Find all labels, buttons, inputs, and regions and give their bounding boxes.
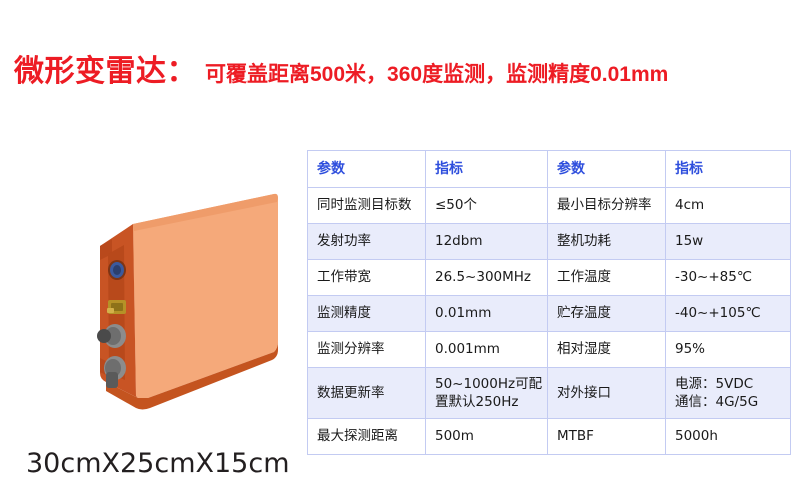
page-title-main: 微形变雷达： xyxy=(14,46,197,90)
param-cell: 工作带宽 xyxy=(308,260,426,296)
param-cell: 监测精度 xyxy=(308,296,426,332)
param-cell: 同时监测目标数 xyxy=(308,188,426,224)
param-cell: 发射功率 xyxy=(308,224,426,260)
page-title-subtitle: 可覆盖距离500米，360度监测，监测精度0.01mm xyxy=(205,58,668,88)
value-cell: 500m xyxy=(426,419,548,455)
table-row: 数据更新率50~1000Hz可配置默认250Hz对外接口电源：5VDC通信：4G… xyxy=(308,368,791,419)
spec-table-body: 同时监测目标数≤50个最小目标分辨率4cm发射功率12dbm整机功耗15w工作带… xyxy=(308,188,791,455)
param-cell: 监测分辨率 xyxy=(308,332,426,368)
column-header-param-left: 参数 xyxy=(308,151,426,188)
page-title: 微形变雷达： 可覆盖距离500米，360度监测，监测精度0.01mm xyxy=(14,46,668,90)
blue-ring-connector xyxy=(108,260,126,280)
value-cell: 0.01mm xyxy=(426,296,548,332)
param-cell: MTBF xyxy=(548,419,666,455)
radar-device-illustration xyxy=(78,182,303,432)
param-cell: 工作温度 xyxy=(548,260,666,296)
table-row: 监测分辨率0.001mm相对湿度95% xyxy=(308,332,791,368)
table-row: 发射功率12dbm整机功耗15w xyxy=(308,224,791,260)
specification-table: 参数 指标 参数 指标 同时监测目标数≤50个最小目标分辨率4cm发射功率12d… xyxy=(307,150,791,455)
spec-table-header: 参数 指标 参数 指标 xyxy=(308,151,791,188)
value-cell: 95% xyxy=(666,332,791,368)
value-cell: 15w xyxy=(666,224,791,260)
param-cell: 整机功耗 xyxy=(548,224,666,260)
param-cell: 相对湿度 xyxy=(548,332,666,368)
device-dimensions-caption: 30cmX25cmX15cm xyxy=(26,448,290,479)
value-cell: -30~+85℃ xyxy=(666,260,791,296)
value-cell: -40~+105℃ xyxy=(666,296,791,332)
column-header-param-right: 参数 xyxy=(548,151,666,188)
spec-table-container: 参数 指标 参数 指标 同时监测目标数≤50个最小目标分辨率4cm发射功率12d… xyxy=(307,150,790,455)
column-header-value-right: 指标 xyxy=(666,151,791,188)
value-cell: 电源：5VDC通信：4G/5G xyxy=(666,368,791,419)
value-cell: 12dbm xyxy=(426,224,548,260)
param-cell: 最大探测距离 xyxy=(308,419,426,455)
table-row: 同时监测目标数≤50个最小目标分辨率4cm xyxy=(308,188,791,224)
value-cell: ≤50个 xyxy=(426,188,548,224)
param-cell: 最小目标分辨率 xyxy=(548,188,666,224)
value-cell: 5000h xyxy=(666,419,791,455)
table-row: 最大探测距离500mMTBF5000h xyxy=(308,419,791,455)
table-row: 工作带宽26.5~300MHz工作温度-30~+85℃ xyxy=(308,260,791,296)
spec-table-header-row: 参数 指标 参数 指标 xyxy=(308,151,791,188)
param-cell: 贮存温度 xyxy=(548,296,666,332)
value-cell: 4cm xyxy=(666,188,791,224)
brass-connector xyxy=(107,300,126,314)
param-cell: 对外接口 xyxy=(548,368,666,419)
value-cell: 50~1000Hz可配置默认250Hz xyxy=(426,368,548,419)
table-row: 监测精度0.01mm贮存温度-40~+105℃ xyxy=(308,296,791,332)
column-header-value-left: 指标 xyxy=(426,151,548,188)
value-cell: 26.5~300MHz xyxy=(426,260,548,296)
radar-device-image xyxy=(78,182,303,432)
value-cell: 0.001mm xyxy=(426,332,548,368)
param-cell: 数据更新率 xyxy=(308,368,426,419)
